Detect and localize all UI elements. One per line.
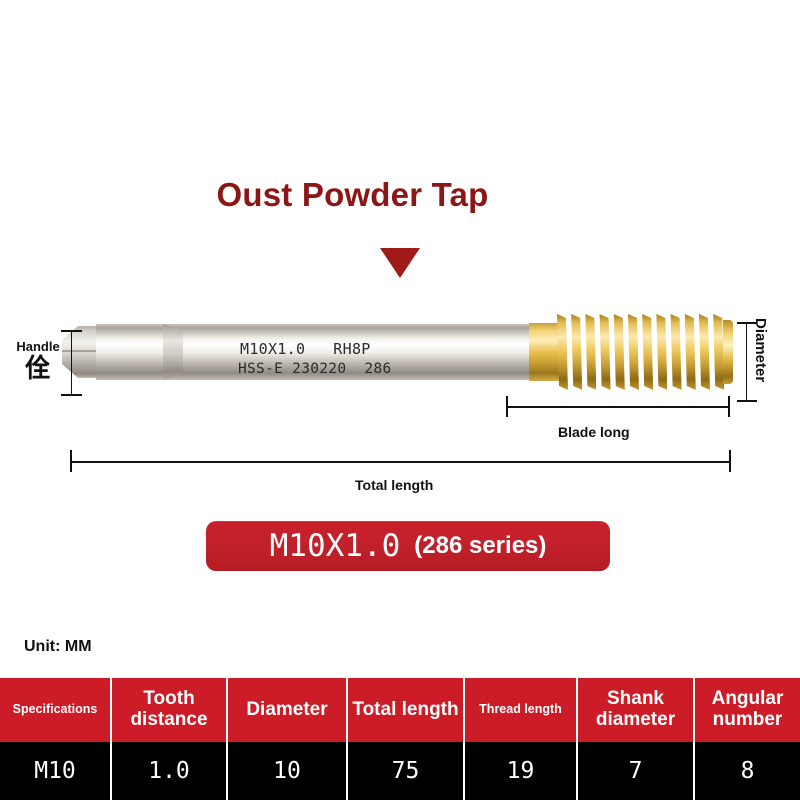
spec-value-thread-length: 19 xyxy=(465,742,578,800)
spec-value-diameter: 10 xyxy=(228,742,348,800)
spec-table-value-row: M10 1.0 10 75 19 7 8 xyxy=(0,742,800,800)
spec-header-shank-diameter: Shank diameter xyxy=(578,678,695,742)
total-length-cap-right xyxy=(729,450,731,472)
unit-note: Unit: MM xyxy=(24,638,92,656)
spec-table: Specifications Tooth distance Diameter T… xyxy=(0,678,800,800)
diameter-dimension-cap-bottom xyxy=(737,400,757,402)
model-banner-size: M10X1.0 xyxy=(270,528,401,564)
tap-tip xyxy=(723,320,733,384)
spec-value-shank-diameter: 7 xyxy=(578,742,695,800)
handle-label-cjk: 佺 xyxy=(8,355,68,382)
tap-illustration xyxy=(0,300,800,480)
handle-dimension-line xyxy=(71,330,72,396)
handle-dimension-cap-top xyxy=(61,330,82,332)
page-title: Oust Powder Tap xyxy=(0,176,800,214)
diameter-dimension-line xyxy=(746,322,747,402)
spec-value-tooth-distance: 1.0 xyxy=(112,742,228,800)
product-spec-sheet: Oust Powder Tap M10X1.0 RH8P HSS-E 23022… xyxy=(0,0,800,800)
spec-value-specifications: M10 xyxy=(0,742,112,800)
engraving-line-1: M10X1.0 RH8P xyxy=(240,340,371,358)
total-length-dimension-line xyxy=(70,461,731,463)
triangle-down-icon xyxy=(380,248,420,278)
model-banner: M10X1.0 (286 series) xyxy=(206,521,610,571)
handle-dimension-cap-bottom xyxy=(61,394,82,396)
spec-header-tooth-distance: Tooth distance xyxy=(112,678,228,742)
tap-drive-bevel xyxy=(163,324,183,380)
spec-header-diameter: Diameter xyxy=(228,678,348,742)
spec-header-total-length: Total length xyxy=(348,678,465,742)
blade-long-dimension-line xyxy=(506,406,730,408)
total-length-cap-left xyxy=(70,450,72,472)
page-title-text: Oust Powder Tap xyxy=(217,176,489,214)
spec-value-angular-number: 8 xyxy=(695,742,800,800)
spec-header-specifications: Specifications xyxy=(0,678,112,742)
total-length-label: Total length xyxy=(355,477,433,493)
diameter-label: Diameter xyxy=(752,318,769,382)
engraving-line-2: HSS-E 230220 286 xyxy=(238,361,392,377)
spec-value-total-length: 75 xyxy=(348,742,465,800)
tap-thread-section xyxy=(553,314,731,390)
handle-label: Handle 佺 xyxy=(8,340,68,382)
blade-long-cap-left xyxy=(506,396,508,417)
handle-label-text: Handle xyxy=(16,339,59,354)
blade-long-label: Blade long xyxy=(558,424,630,440)
model-banner-series: (286 series) xyxy=(414,532,546,560)
spec-header-angular-number: Angular number xyxy=(695,678,800,742)
blade-long-cap-right xyxy=(728,396,730,417)
spec-header-thread-length: Thread length xyxy=(465,678,578,742)
spec-table-header-row: Specifications Tooth distance Diameter T… xyxy=(0,678,800,742)
